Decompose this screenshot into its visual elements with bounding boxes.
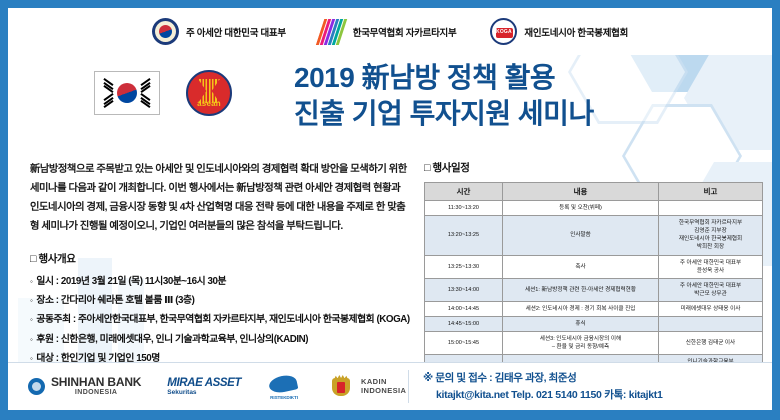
sponsor-sub-4: INDONESIA — [361, 387, 406, 395]
sponsor-mirae-asset: MIRAE ASSET Sekuritas — [167, 377, 241, 397]
organizer-korea-mission: 주 아세안 대한민국 대표부 — [152, 18, 286, 45]
overview-item: ◦공동주최 : 주아세안한국대표부, 한국무역협회 자카르타지부, 재인도네시아… — [30, 310, 430, 329]
table-row: 13:20~13:25인사말씀한국무역협회 자카르타지부김영준 지부장재인도네시… — [425, 216, 763, 255]
organizer-koga: KOGA 재인도네시아 한국봉제협회 — [490, 18, 628, 45]
bullet-icon: ◦ — [30, 330, 32, 349]
bullet-icon: ◦ — [30, 272, 32, 291]
title-line-1: 2019 新남방 정책 활용 — [294, 60, 764, 96]
schedule-col-time: 시간 — [425, 183, 503, 201]
schedule-cell-time: 15:00~15:45 — [425, 332, 503, 355]
schedule-col-note: 비고 — [659, 183, 763, 201]
asean-label: asean — [188, 99, 230, 108]
schedule-cell-content: 세션1: 新남방정책 관련 한-아세안 경제협력현황 — [503, 278, 659, 301]
schedule-cell-time: 11:30~13:20 — [425, 201, 503, 216]
schedule-cell-note — [659, 317, 763, 332]
mirae-asset-logo-icon: MIRAE ASSET Sekuritas — [167, 377, 241, 397]
shinhan-bank-logo-icon — [28, 378, 45, 395]
schedule-header-row: 시간 내용 비고 — [425, 183, 763, 201]
overview-item: ◦일시 : 2019년 3월 21일 (목) 11시30분~16시 30분 — [30, 272, 430, 291]
title-line-2: 진출 기업 투자지원 세미나 — [294, 96, 764, 132]
frame-border-right — [772, 0, 780, 420]
schedule-cell-time: 13:30~14:00 — [425, 278, 503, 301]
schedule-cell-content: 세션2: 인도네시아 경제 : 경기 회복 사이클 진입 — [503, 301, 659, 316]
sponsor-name-3: RISTEKDIKTI — [267, 395, 301, 400]
schedule-heading: □ 행사일정 — [424, 160, 762, 175]
poster-body: 주 아세안 대한민국 대표부 한국무역협회 자카르타지부 KOGA 재인도네시아… — [8, 8, 772, 410]
schedule-cell-time: 14:45~15:00 — [425, 317, 503, 332]
schedule-cell-note: 주 아세안 대한민국 대표부윤성욱 공사 — [659, 255, 763, 278]
contact-line-1: ※ 문의 및 접수 : 김태우 과장, 최준성 — [423, 370, 772, 387]
schedule-cell-content: 휴식 — [503, 317, 659, 332]
sponsor-name-2: MIRAE ASSET — [167, 377, 241, 390]
frame-border-top — [0, 0, 780, 8]
korea-mission-emblem-icon — [152, 18, 179, 45]
seminar-poster: 주 아세안 대한민국 대표부 한국무역협회 자카르타지부 KOGA 재인도네시아… — [0, 0, 780, 420]
overview-row-list: ◦일시 : 2019년 3월 21일 (목) 11시30분~16시 30분◦장소… — [30, 272, 430, 368]
asean-emblem-icon: asean — [186, 70, 232, 116]
overview-item: ◦후원 : 신한은행, 미래에셋대우, 인니 기술과학교육부, 인니상의(KAD… — [30, 330, 430, 349]
organizer-name-3: 재인도네시아 한국봉제협회 — [524, 25, 628, 39]
sponsor-name-1: SHINHAN BANK — [51, 376, 141, 389]
bullet-icon: ◦ — [30, 291, 32, 310]
table-row: 13:25~13:30축사주 아세안 대한민국 대표부윤성욱 공사 — [425, 255, 763, 278]
ristekdikti-logo-icon: RISTEKDIKTI — [267, 374, 301, 400]
bullet-icon: ◦ — [30, 310, 32, 329]
schedule-cell-time: 13:20~13:25 — [425, 216, 503, 255]
sponsor-sub-1: INDONESIA — [51, 389, 141, 397]
sponsor-sub-2: Sekuritas — [167, 389, 241, 396]
table-row: 13:30~14:00세션1: 新남방정책 관련 한-아세안 경제협력현황주 아… — [425, 278, 763, 301]
event-schedule: □ 행사일정 시간 내용 비고 11:30~13:20등록 및 오찬(뷔페)13… — [424, 160, 762, 379]
overview-item-text: 후원 : 신한은행, 미래에셋대우, 인니 기술과학교육부, 인니상의(KADI… — [36, 330, 308, 349]
intro-description: 新남방정책으로 주목받고 있는 아세안 및 인도네시아와의 경제협력 확대 방안… — [30, 160, 410, 236]
table-row: 14:00~14:45세션2: 인도네시아 경제 : 경기 회복 사이클 진입미… — [425, 301, 763, 316]
schedule-cell-note: 주 아세안 대한민국 대표부박근모 상무관 — [659, 278, 763, 301]
overview-heading: □ 행사개요 — [30, 251, 430, 266]
schedule-table: 시간 내용 비고 11:30~13:20등록 및 오찬(뷔페)13:20~13:… — [424, 182, 763, 379]
schedule-cell-note: 신한은행 김태균 이사 — [659, 332, 763, 355]
schedule-cell-note — [659, 201, 763, 216]
flag-group: asean — [94, 70, 232, 116]
sponsor-shinhan-bank: SHINHAN BANK INDONESIA — [28, 376, 141, 397]
schedule-cell-time: 14:00~14:45 — [425, 301, 503, 316]
organizer-name-1: 주 아세안 대한민국 대표부 — [186, 25, 286, 39]
contact-block: ※ 문의 및 접수 : 김태우 과장, 최준성 kitajkt@kita.net… — [408, 370, 772, 404]
schedule-cell-note: 한국무역협회 자카르타지부김영준 지부장재인도네시아 한국봉제협회박희찬 회장 — [659, 216, 763, 255]
schedule-col-content: 내용 — [503, 183, 659, 201]
table-row: 11:30~13:20등록 및 오찬(뷔페) — [425, 201, 763, 216]
footer-bar: SHINHAN BANK INDONESIA MIRAE ASSET Sekur… — [8, 362, 772, 410]
organizer-bar: 주 아세안 대한민국 대표부 한국무역협회 자카르타지부 KOGA 재인도네시아… — [8, 8, 772, 55]
kita-logo-icon — [316, 19, 350, 45]
schedule-cell-content: 등록 및 오찬(뷔페) — [503, 201, 659, 216]
table-row: 15:00~15:45세션3: 인도네시아 금융시장의 이해– 환율 및 금리 … — [425, 332, 763, 355]
schedule-cell-content: 축사 — [503, 255, 659, 278]
table-row: 14:45~15:00휴식 — [425, 317, 763, 332]
kadin-logo-icon — [327, 375, 355, 399]
schedule-cell-time: 13:25~13:30 — [425, 255, 503, 278]
event-overview: □ 행사개요 ◦일시 : 2019년 3월 21일 (목) 11시30분~16시… — [30, 251, 430, 368]
sponsor-ristekdikti: RISTEKDIKTI — [267, 374, 301, 400]
schedule-cell-content: 세션3: 인도네시아 금융시장의 이해– 환율 및 금리 동향/예측 — [503, 332, 659, 355]
taegeukgi-flag-icon — [94, 71, 160, 115]
contact-line-2[interactable]: kitajkt@kita.net Telp. 021 5140 1150 카톡:… — [423, 387, 772, 404]
sponsor-list: SHINHAN BANK INDONESIA MIRAE ASSET Sekur… — [8, 374, 408, 400]
overview-item-text: 일시 : 2019년 3월 21일 (목) 11시30분~16시 30분 — [36, 272, 226, 291]
schedule-cell-note: 미래에셋대우 상태웅 이사 — [659, 301, 763, 316]
organizer-kita: 한국무역협회 자카르타지부 — [320, 19, 457, 45]
schedule-cell-content: 인사말씀 — [503, 216, 659, 255]
organizer-name-2: 한국무역협회 자카르타지부 — [353, 25, 457, 39]
overview-item-text: 공동주최 : 주아세안한국대표부, 한국무역협회 자카르타지부, 재인도네시아 … — [36, 310, 409, 329]
frame-border-bottom — [0, 410, 780, 420]
page-title: 2019 新남방 정책 활용 진출 기업 투자지원 세미나 — [294, 60, 764, 132]
koga-logo-icon: KOGA — [490, 18, 517, 45]
overview-item: ◦장소 : 간다리아 쉐라톤 호텔 볼룸 Ⅲ (3층) — [30, 291, 430, 310]
schedule-body: 11:30~13:20등록 및 오찬(뷔페)13:20~13:25인사말씀한국무… — [425, 201, 763, 379]
sponsor-kadin: KADIN INDONESIA — [327, 375, 406, 399]
intro-paragraph: 新남방정책으로 주목받고 있는 아세안 및 인도네시아와의 경제협력 확대 방안… — [30, 160, 410, 236]
frame-border-left — [0, 0, 8, 420]
overview-item-text: 장소 : 간다리아 쉐라톤 호텔 볼룸 Ⅲ (3층) — [36, 291, 194, 310]
